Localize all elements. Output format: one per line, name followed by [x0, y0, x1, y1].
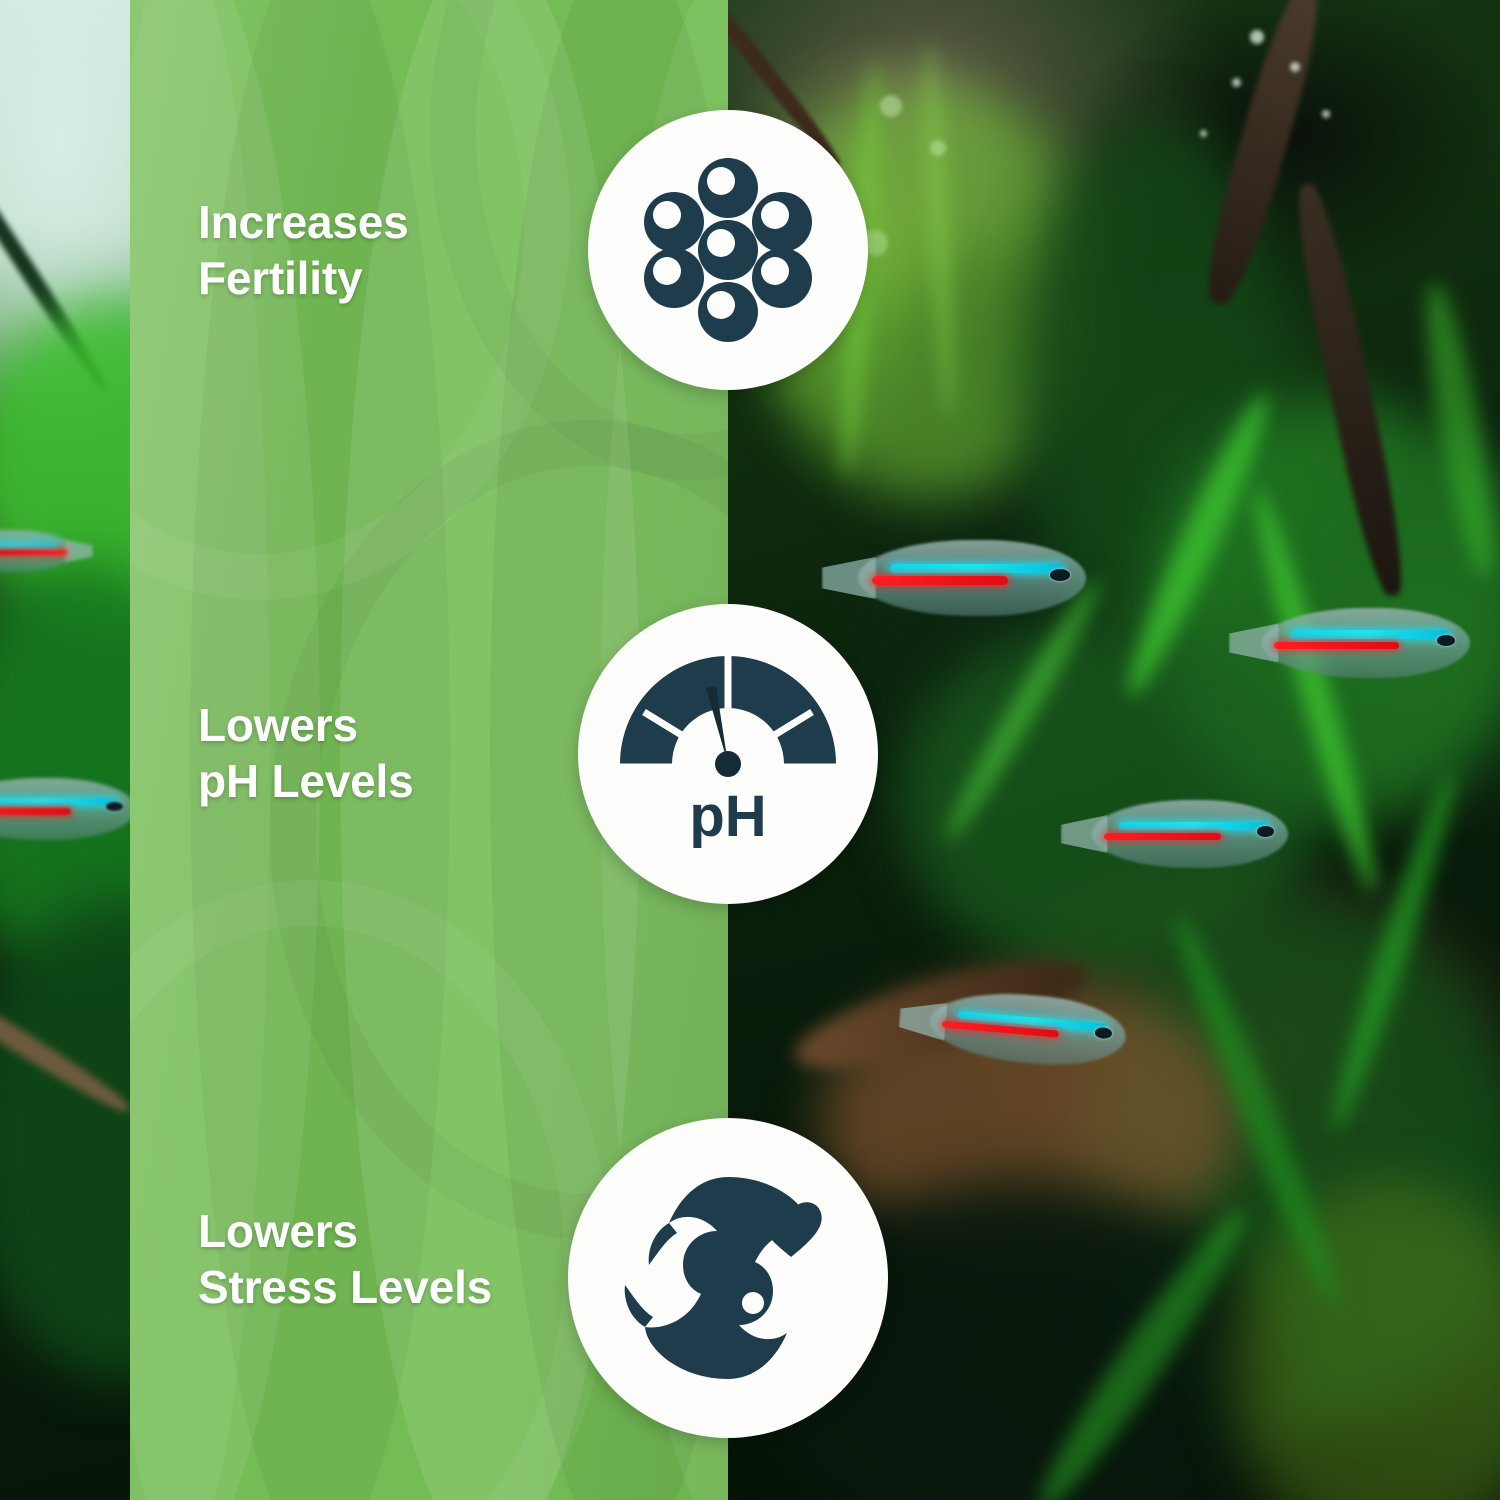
fish-neon-stripe: [890, 564, 1063, 573]
feature-label-stress: Lowers Stress Levels: [198, 1203, 492, 1315]
fish-eye: [1050, 569, 1071, 581]
feature-icon-badge-fertility: [588, 110, 868, 390]
ph-gauge-icon: pH: [610, 636, 846, 872]
feature-icon-badge-ph: pH: [578, 604, 878, 904]
fish-red-stripe: [1274, 642, 1399, 650]
neon-tetra-fish: [1092, 800, 1288, 868]
fish-neon-stripe: [1291, 630, 1449, 638]
water-droplet: [1232, 78, 1241, 87]
fish-red-stripe: [1104, 833, 1222, 840]
fish-eggs-icon: [628, 150, 828, 350]
fish-eye: [106, 802, 123, 812]
neon-tetra-fish: [0, 778, 136, 840]
water-droplet: [1290, 62, 1300, 72]
fish-red-stripe: [0, 808, 71, 815]
neon-tetra-fish: [0, 530, 74, 572]
bokeh-dot: [930, 140, 946, 156]
fish-neon-stripe: [1119, 822, 1268, 830]
fish-neon-stripe: [0, 798, 117, 805]
fish-neon-stripe: [0, 543, 57, 548]
feature-icon-badge-stress: [568, 1118, 888, 1438]
bokeh-dot: [880, 95, 902, 117]
ph-gauge-text: pH: [689, 784, 766, 849]
product-feature-graphic: Increases Fertility Lowers pH Levels Low…: [0, 0, 1500, 1500]
water-droplet: [1322, 110, 1330, 118]
water-droplet: [1250, 30, 1264, 44]
fish-eye: [1437, 635, 1456, 646]
fish-red-stripe: [0, 550, 67, 555]
feature-label-fertility: Increases Fertility: [198, 194, 408, 306]
fish-red-stripe: [872, 576, 1009, 584]
neon-tetra-fish: [858, 540, 1086, 616]
two-fish-heart-icon: [603, 1153, 853, 1403]
neon-tetra-fish: [1262, 608, 1470, 678]
water-droplet: [1200, 130, 1207, 137]
fish-eye: [1257, 826, 1275, 837]
feature-label-ph: Lowers pH Levels: [198, 697, 414, 809]
